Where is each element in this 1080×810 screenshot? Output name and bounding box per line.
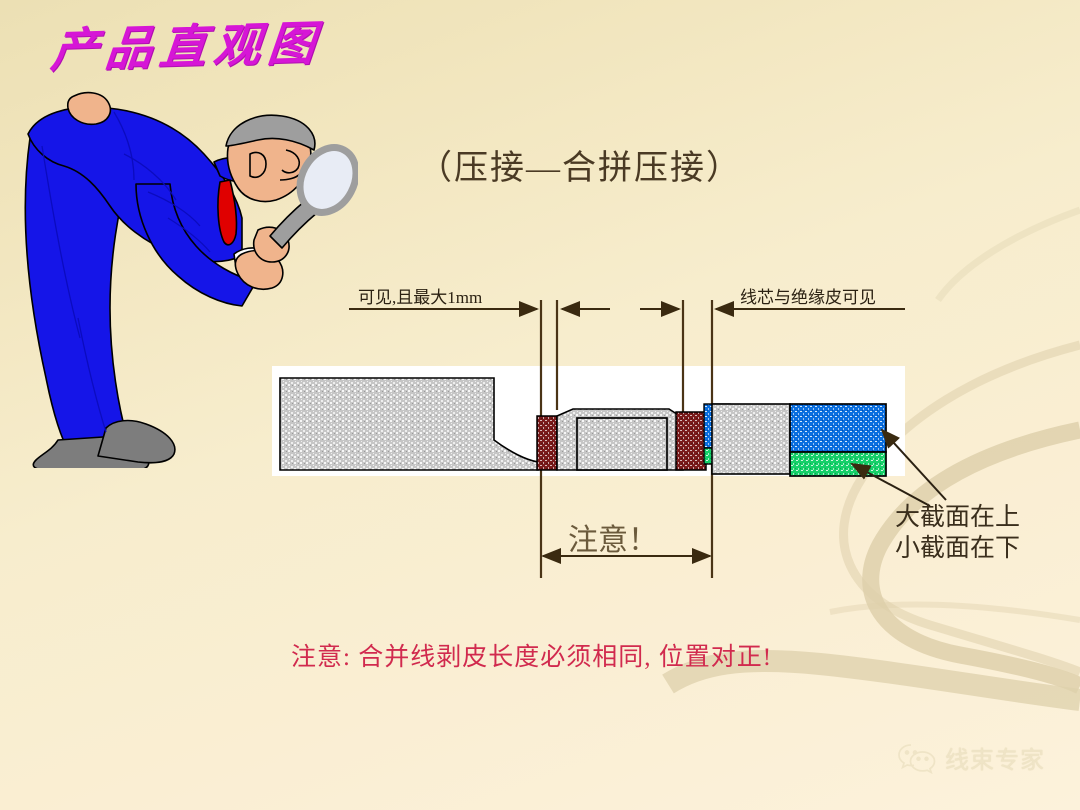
wire-sheath-grey [712, 404, 790, 474]
label-center-dimension: 注意！ [568, 515, 658, 559]
warning-note: 注意: 合并线剥皮长度必须相同, 位置对正! [291, 637, 772, 673]
wechat-icon [898, 742, 936, 774]
watermark: 线束专家 [898, 740, 1045, 775]
insulation-large-top [790, 404, 886, 452]
slide-canvas: 产品直观图 （压接—合拼压接） [0, 0, 1080, 810]
callout-leader-top [882, 430, 946, 500]
label-left-dimension: 可见,且最大1mm [358, 283, 482, 308]
crimp-conductor-right [676, 412, 706, 470]
crimp-barrel-inner [577, 418, 667, 470]
insulation-small-bottom [790, 452, 886, 476]
right-callout-line-1: 大截面在上 [895, 503, 1020, 534]
terminal-body [280, 378, 538, 470]
right-callout-note: 大截面在上 小截面在下 [895, 503, 1020, 564]
right-callout-line-2: 小截面在下 [895, 534, 1020, 565]
crimp-conductor-left [537, 416, 557, 470]
crimp-cross-section-diagram [0, 0, 1080, 810]
label-right-dimension: 线芯与绝缘皮可见 [740, 283, 876, 308]
watermark-text: 线束专家 [945, 740, 1045, 775]
